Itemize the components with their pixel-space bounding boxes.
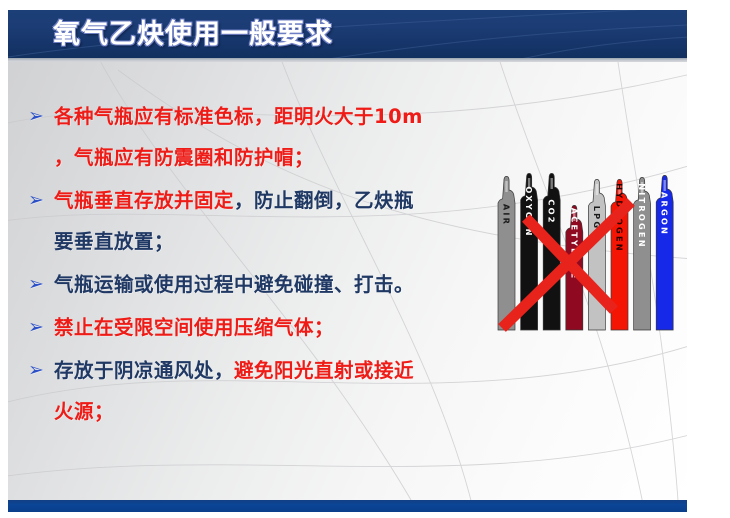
bullet-line-continuation: ，气瓶应有防震圈和防护帽；	[22, 137, 472, 178]
text-run-navy: 气瓶运输或使用过程中避免碰撞、打击。	[54, 273, 414, 296]
banner-underline	[8, 58, 687, 62]
bullet-line: ➢气瓶运输或使用过程中避免碰撞、打击。	[22, 264, 472, 305]
text-run-red: ，气瓶应有防震圈和防护帽；	[54, 146, 314, 169]
bullet-arrow-icon: ➢	[28, 264, 54, 305]
bullet-arrow-icon: ➢	[28, 96, 54, 137]
cylinder-label: AIR	[502, 204, 512, 226]
gas-cylinder-nitrogen: NITROGEN	[634, 177, 651, 330]
cylinder-valve	[505, 181, 507, 192]
bullet-item: ➢各种气瓶应有标准色标，距明火大于10m，气瓶应有防震圈和防护帽；	[22, 96, 472, 178]
cylinders-svg: AIROXYGENCO2ACETYLENELPGHYDROGENNITROGEN…	[486, 160, 686, 360]
bullet-line: ➢气瓶垂直存放并固定，防止翻倒，乙炔瓶	[22, 180, 472, 221]
text-run-red: 气瓶垂直存放并固定	[54, 189, 234, 212]
bullet-arrow-icon: ➢	[28, 350, 54, 391]
bullet-text: 气瓶运输或使用过程中避免碰撞、打击。	[22, 264, 414, 305]
bullet-text: 要垂直放置；	[54, 221, 174, 262]
slide-title-banner: 氧气乙炔使用一般要求	[8, 10, 687, 58]
bullet-line-continuation: 火源；	[22, 391, 472, 432]
cylinder-valve	[596, 184, 598, 195]
page-title: 氧气乙炔使用一般要求	[53, 14, 333, 56]
cylinder-label: ARGON	[660, 192, 670, 236]
bullet-line: ➢存放于阴凉通风处，避免阳光直射或接近	[22, 350, 472, 391]
bullet-line: ➢禁止在受限空间使用压缩气体；	[22, 307, 472, 348]
cylinder-valve	[664, 180, 666, 191]
bullet-text: 各种气瓶应有标准色标，距明火大于10m	[22, 96, 423, 137]
bullet-arrow-icon: ➢	[28, 307, 54, 348]
slide-canvas: 氧气乙炔使用一般要求 ➢各种气瓶应有标准色标，距明火大于10m，气瓶应有防震圈和…	[8, 10, 687, 512]
text-run-navy: 要垂直放置；	[54, 230, 174, 253]
gas-cylinder-argon: ARGON	[656, 175, 673, 330]
bullet-text: 存放于阴凉通风处，避免阳光直射或接近	[22, 350, 414, 391]
text-run-red: 各种气瓶应有标准色标，距明火大于10m	[54, 105, 423, 128]
bullet-text: ，气瓶应有防震圈和防护帽；	[54, 137, 314, 178]
bullet-text: 火源；	[54, 391, 114, 432]
footer-bar	[8, 500, 687, 512]
bullet-item: ➢气瓶垂直存放并固定，防止翻倒，乙炔瓶要垂直放置；	[22, 180, 472, 262]
text-run-red: 避免阳光直射或接近	[234, 359, 414, 382]
text-run-navy: ，防止翻倒，乙炔瓶	[234, 189, 414, 212]
cylinder-valve	[551, 178, 553, 189]
bullet-arrow-icon: ➢	[28, 180, 54, 221]
gas-cylinders-illustration: AIROXYGENCO2ACETYLENELPGHYDROGENNITROGEN…	[486, 160, 686, 360]
bullet-text: 禁止在受限空间使用压缩气体；	[22, 307, 334, 348]
cylinder-label: CO2	[547, 199, 557, 224]
bullet-text: 气瓶垂直存放并固定，防止翻倒，乙炔瓶	[22, 180, 414, 221]
bullet-item: ➢禁止在受限空间使用压缩气体；	[22, 307, 472, 348]
gas-cylinder-lpg: LPG	[588, 179, 605, 330]
text-run-navy: 存放于阴凉通风处，	[54, 359, 234, 382]
bullet-list: ➢各种气瓶应有标准色标，距明火大于10m，气瓶应有防震圈和防护帽；➢气瓶垂直存放…	[22, 96, 472, 434]
gas-cylinder-air: AIR	[498, 176, 515, 330]
text-run-red: 禁止在受限空间使用压缩气体；	[54, 316, 334, 339]
text-run-red: 火源；	[54, 400, 114, 423]
bullet-line: ➢各种气瓶应有标准色标，距明火大于10m	[22, 96, 472, 137]
bullet-item: ➢存放于阴凉通风处，避免阳光直射或接近火源；	[22, 350, 472, 432]
cylinder-label: NITROGEN	[637, 183, 647, 249]
bullet-line-continuation: 要垂直放置；	[22, 221, 472, 262]
bullet-item: ➢气瓶运输或使用过程中避免碰撞、打击。	[22, 264, 472, 305]
